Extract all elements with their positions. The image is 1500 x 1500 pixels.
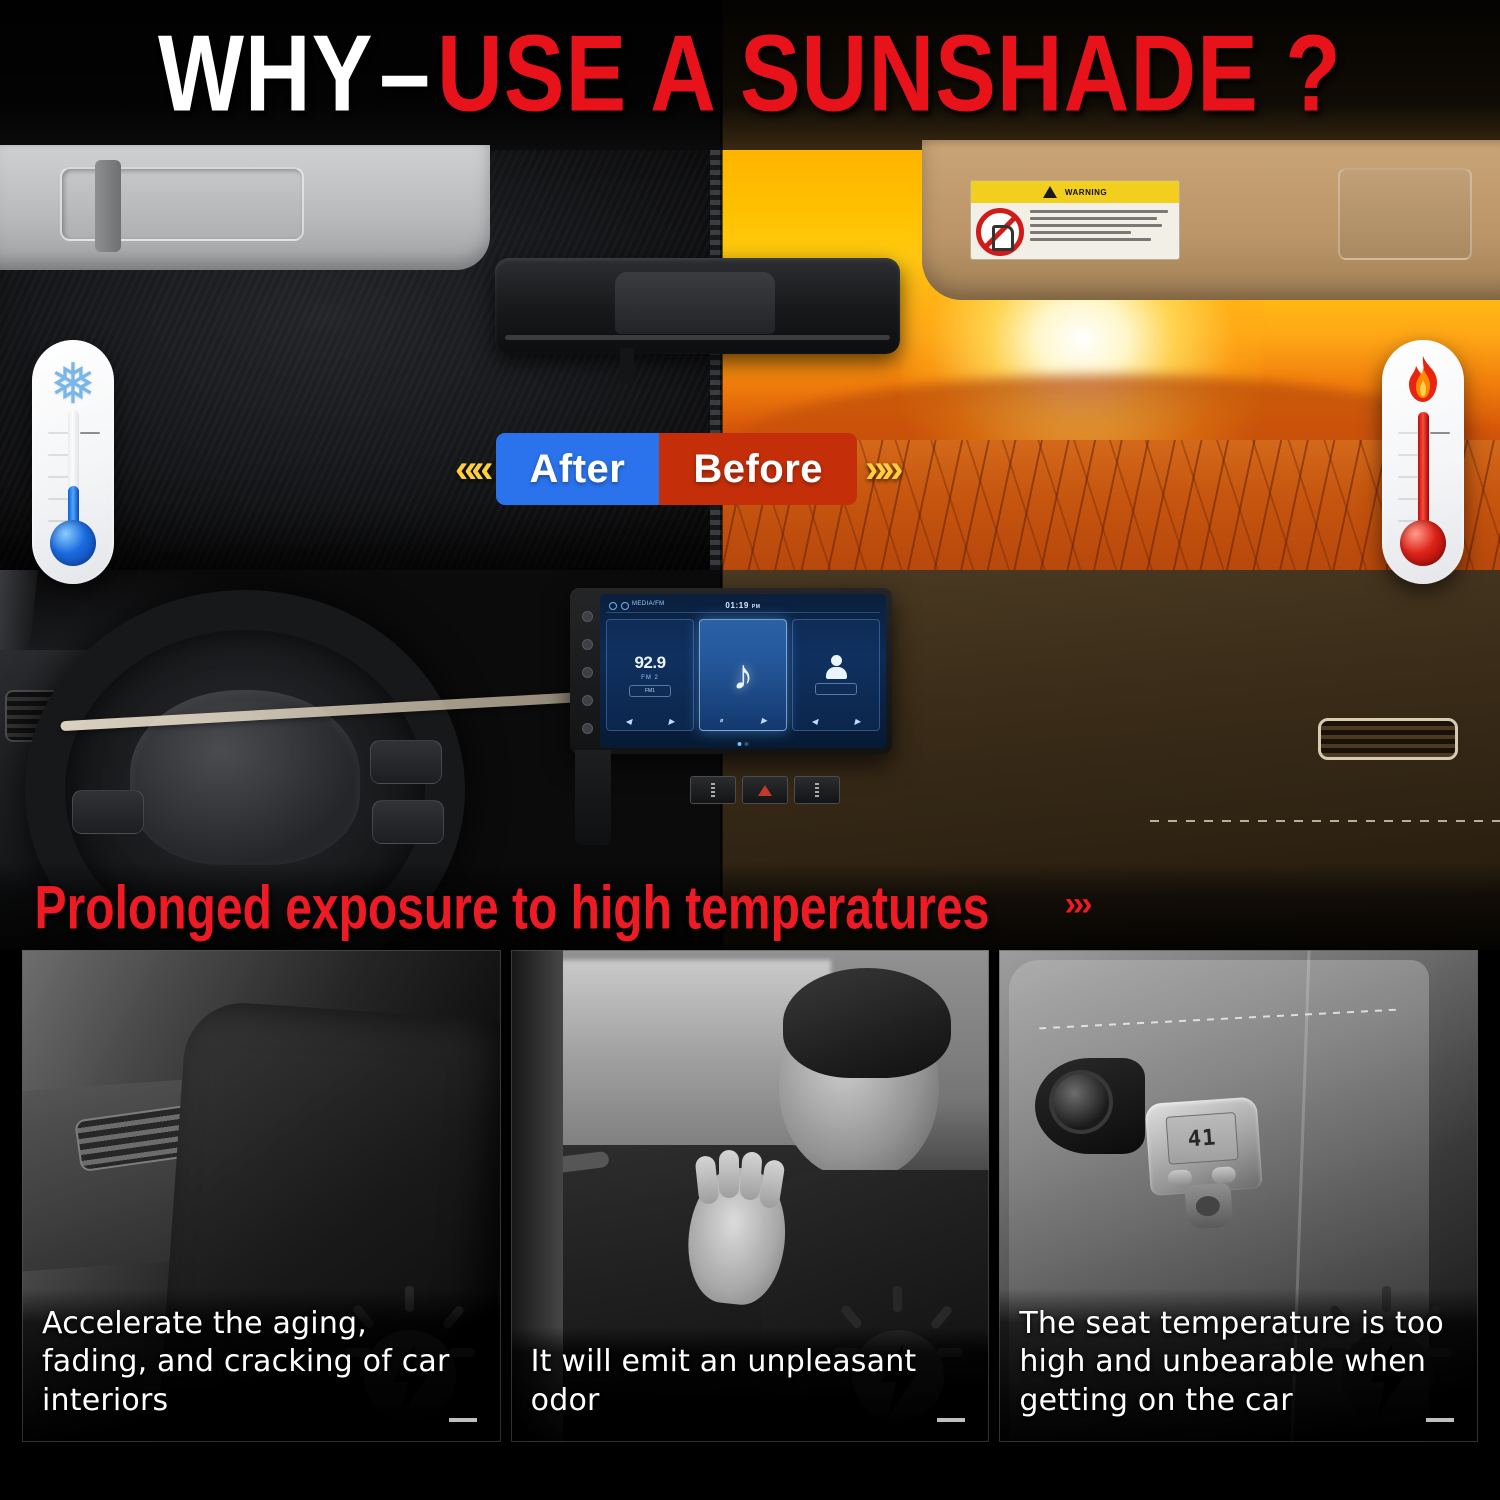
panel-caption-2: It will emit an unpleasant odor (531, 1343, 970, 1420)
infrared-thermometer-display: 41 (1166, 1112, 1239, 1165)
radio-frequency: 92.9 (634, 653, 665, 673)
mid-banner-arrows-icon: ››› (1065, 885, 1090, 924)
title-dash: – (374, 13, 438, 133)
defrost-rear-button[interactable] (690, 776, 736, 804)
rearview-mirror (495, 258, 900, 354)
radio-preset[interactable]: FM1 (629, 685, 671, 697)
caption-underscore-1 (449, 1418, 477, 1422)
head-unit-screen[interactable]: MEDIA/FM 01:19 PM 92.9 FM 2 FM1 ◀ ▶ (600, 594, 886, 748)
settings-gear-icon (621, 602, 629, 610)
radio-seek-controls[interactable]: ◀ ▶ (607, 717, 693, 726)
phone-next-icon[interactable]: ▶ (854, 717, 860, 726)
side-button-settings[interactable] (582, 695, 593, 706)
contact-person-icon (824, 655, 848, 679)
mid-banner-text: Prolonged exposure to high temperatures (0, 873, 989, 944)
phone-call-button[interactable] (815, 683, 857, 695)
title-word-why: WHY (158, 13, 373, 133)
no-child-seat-icon (976, 208, 1024, 256)
head-unit-source-label: MEDIA/FM (632, 601, 665, 607)
hazard-triangle-icon (758, 785, 772, 796)
panel-caption-3-box: The seat temperature is too high and unb… (999, 1289, 1478, 1442)
head-unit-mount (575, 750, 611, 845)
side-button-home[interactable] (582, 639, 593, 650)
consequence-panels: Accelerate the aging, fading, and cracki… (0, 950, 1500, 1500)
panel-seat-temperature: 41 The se (999, 950, 1478, 1442)
panel-caption-1-box: Accelerate the aging, fading, and cracki… (22, 1289, 501, 1442)
caption-underscore-2 (937, 1418, 965, 1422)
warning-label-body (971, 203, 1179, 260)
thermometer-bulb-cold (50, 520, 96, 566)
flame-icon (1399, 354, 1447, 414)
thermometer-reading: 41 (1187, 1125, 1217, 1152)
media-card[interactable]: ♪ ⏸ ▶ (699, 619, 787, 731)
media-next-icon[interactable]: ▶ (761, 716, 767, 726)
media-pause-icon[interactable]: ⏸ (719, 716, 723, 726)
warning-label-fine-print (1030, 208, 1174, 256)
warning-triangle-icon (1043, 186, 1057, 198)
hot-thermometer (1382, 340, 1464, 584)
person-hair-photo (783, 968, 951, 1078)
page-indicator-dots (738, 742, 749, 746)
sun-visor-left (0, 145, 490, 270)
warning-label-header: WARNING (971, 181, 1179, 203)
chevron-right-icon: »» (865, 449, 898, 489)
side-button-menu[interactable] (582, 723, 593, 734)
after-badge[interactable]: After (496, 433, 660, 505)
phone-prev-icon[interactable]: ◀ (811, 717, 817, 726)
product-infographic: WARNING (0, 0, 1500, 1500)
page-title-text: WHY–USE A SUNSHADE ? (158, 12, 1342, 136)
infotainment-head-unit[interactable]: MEDIA/FM 01:19 PM 92.9 FM 2 FM1 ◀ ▶ (570, 588, 892, 754)
side-button-power[interactable] (582, 611, 593, 622)
panel-caption-3: The seat temperature is too high and unb… (1019, 1305, 1458, 1420)
head-unit-clock: 01:19 (725, 601, 748, 610)
center-console-buttons[interactable] (690, 776, 840, 804)
radio-card[interactable]: 92.9 FM 2 FM1 ◀ ▶ (606, 619, 694, 731)
mid-banner: Prolonged exposure to high temperatures … (0, 862, 1500, 950)
side-button-volume[interactable] (582, 667, 593, 678)
panel-caption-1: Accelerate the aging, fading, and cracki… (42, 1305, 481, 1420)
head-unit-status-bar: MEDIA/FM 01:19 PM (606, 599, 880, 613)
air-vent-right-icon (1318, 718, 1458, 760)
snowflake-icon: ❅ (50, 356, 97, 412)
airbag-warning-label: WARNING (970, 180, 1180, 260)
before-badge[interactable]: Before (659, 433, 857, 505)
radio-seek-next-icon[interactable]: ▶ (668, 717, 674, 726)
title-word-use-a-sunshade: USE A SUNSHADE ? (437, 13, 1342, 133)
visor-clip (95, 160, 121, 252)
wristwatch-photo (1049, 1070, 1113, 1134)
steering-control-right-upper (370, 740, 442, 784)
chevron-left-icon: «« (455, 449, 488, 489)
mirror-reflection-seat (615, 272, 775, 334)
caption-underscore-3 (1426, 1418, 1454, 1422)
panel-caption-2-box: It will emit an unpleasant odor (511, 1327, 990, 1442)
steering-control-right-lower (372, 800, 444, 844)
steering-control-left (72, 790, 144, 834)
dashboard-stitching (1150, 820, 1500, 822)
defrost-front-button[interactable] (794, 776, 840, 804)
radio-seek-prev-icon[interactable]: ◀ (625, 717, 631, 726)
media-transport-controls[interactable]: ⏸ ▶ (700, 716, 786, 726)
music-note-icon: ♪ (733, 658, 754, 692)
mirror-reflection-rail (505, 335, 890, 340)
infrared-thermometer: 41 (1145, 1096, 1272, 1234)
phone-card[interactable]: ◀ ▶ (792, 619, 880, 731)
thermometer-bulb-hot (1400, 520, 1446, 566)
radio-band: FM 2 (641, 675, 659, 681)
phone-page-controls[interactable]: ◀ ▶ (793, 717, 879, 726)
panel-unpleasant-odor: It will emit an unpleasant odor (511, 950, 990, 1442)
cold-thermometer: ❅ (32, 340, 114, 584)
rearview-mirror-stem (620, 348, 634, 384)
head-unit-clock-suffix: PM (752, 604, 761, 610)
head-unit-cards: 92.9 FM 2 FM1 ◀ ▶ ♪ ⏸ ▶ (606, 619, 880, 731)
bluetooth-icon (609, 602, 617, 610)
panel-aging-fading-cracking: Accelerate the aging, fading, and cracki… (22, 950, 501, 1442)
hazard-light-button[interactable] (742, 776, 788, 804)
before-after-badge-group: «« After Before »» (455, 433, 898, 505)
head-unit-side-buttons[interactable] (577, 602, 597, 742)
warning-label-heading: WARNING (1065, 188, 1107, 197)
page-title: WHY–USE A SUNSHADE ? (0, 0, 1500, 148)
